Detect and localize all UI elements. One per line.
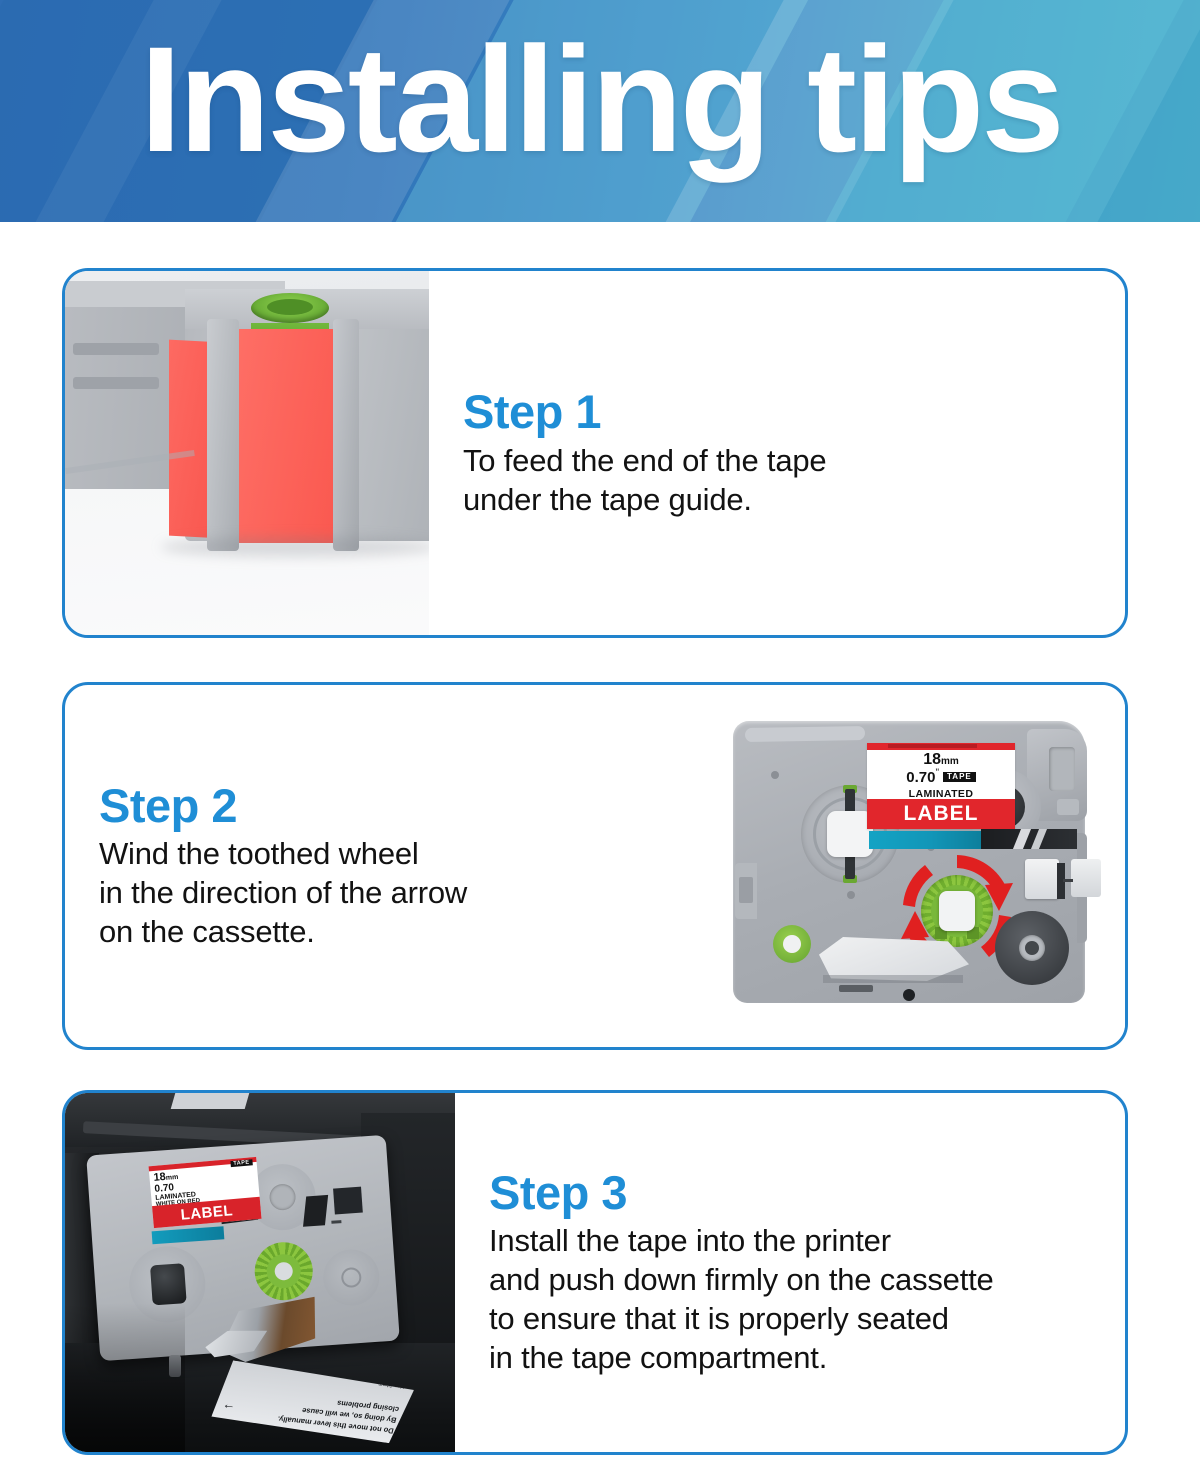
photo3-teal-tape-strip [152, 1226, 225, 1244]
cassette-left-spool-tab-bottom [845, 855, 855, 879]
label-width-mm-row: 18mm [867, 752, 1015, 768]
cassette-teal-tape-strip [869, 831, 981, 849]
cassette-right-ear-hole [1049, 747, 1075, 791]
header-banner: Installing tips [0, 0, 1200, 222]
photo1-tape-guide-left [207, 319, 239, 551]
cassette-top-notch [745, 726, 865, 742]
cassette-dark-roller-core [1025, 941, 1039, 955]
step-1-text: Step 1 To feed the end of the tape under… [429, 387, 1125, 518]
step-2-text: Step 2 Wind the toothed wheel in the dir… [65, 781, 695, 951]
photo1-rear-slot-1 [73, 343, 159, 355]
step-2-title: Step 2 [99, 781, 661, 830]
step-card-3: 18mm 0.70 LAMINATED WHITE ON RED TAPE LA… [62, 1090, 1128, 1455]
cassette-left-foot-inner [739, 877, 753, 903]
photo3-cassette-dash [331, 1220, 341, 1224]
step-3-title: Step 3 [489, 1168, 1091, 1217]
photo1-rear-slot-2 [73, 377, 159, 389]
photo1-red-tape [235, 329, 339, 543]
photo3-label-brand-word: LABEL [180, 1202, 234, 1224]
label-width-inch-row: 0.70"TAPE [867, 768, 1015, 786]
step-3-photo: 18mm 0.70 LAMINATED WHITE ON RED TAPE LA… [65, 1093, 455, 1452]
cassette-button-b [1071, 859, 1101, 897]
step-card-1: Step 1 To feed the end of the tape under… [62, 268, 1128, 638]
cassette-screw-2 [847, 891, 855, 899]
cassette-illustration: 18mm 0.70"TAPE LAMINATED WHITE ON RED LA… [727, 713, 1091, 1013]
photo3-label-mm-unit: mm [166, 1174, 179, 1182]
photo3-label-tape-tag: TAPE [230, 1159, 253, 1167]
step-1-body: To feed the end of the tape under the ta… [463, 441, 1091, 519]
label-mm-unit: mm [941, 756, 959, 767]
step-2-photo: 18mm 0.70"TAPE LAMINATED WHITE ON RED LA… [695, 685, 1125, 1047]
label-tape-tag: TAPE [943, 772, 976, 782]
cassette-left-spool-tab-top [845, 789, 855, 813]
cassette-small-green-roller-hub [783, 935, 801, 953]
cassette-right-ear-hole-2 [1057, 799, 1079, 815]
step-2-body: Wind the toothed wheel in the direction … [99, 834, 661, 951]
photo3-top-highlight [171, 1093, 250, 1109]
cassette-black-tape-strip [981, 829, 1077, 849]
label-top-red-bar [867, 743, 1015, 750]
cassette-bottom-dot [903, 989, 915, 1001]
label-laminated: LAMINATED [867, 789, 1015, 800]
photo3-cassette-label: 18mm 0.70 LAMINATED WHITE ON RED TAPE LA… [149, 1157, 262, 1228]
photo3-left-shadow [65, 1303, 185, 1452]
cassette-label-sticker: 18mm 0.70"TAPE LAMINATED WHITE ON RED LA… [867, 743, 1015, 829]
step-card-2: 18mm 0.70"TAPE LAMINATED WHITE ON RED LA… [62, 682, 1128, 1050]
photo1-green-spool-hole [267, 299, 313, 315]
label-red-band: LABEL [867, 799, 1015, 829]
label-width-mm: 18 [923, 751, 941, 768]
cassette-button-a [1025, 859, 1059, 899]
photo1-shadow [161, 537, 429, 557]
cassette-lever-shadow [823, 975, 963, 983]
photo1-tape-guide-right [333, 319, 359, 551]
label-width-inch: 0.70 [906, 770, 935, 785]
photo3-cassette-slot-1 [303, 1195, 328, 1227]
cassette-dash-mark [1063, 879, 1073, 882]
step-3-body: Install the tape into the printer and pu… [489, 1221, 1091, 1377]
photo3-cassette-slot-2 [333, 1187, 363, 1215]
cassette-bottom-bar [839, 985, 873, 992]
cassette-screw-1 [771, 771, 779, 779]
infographic-page: Installing tips [0, 0, 1200, 1457]
label-inch-mark: " [935, 768, 939, 779]
step-1-title: Step 1 [463, 387, 1091, 436]
step-1-photo [65, 271, 429, 635]
photo3-cassette-left-spool-hub [150, 1263, 187, 1305]
step-3-text: Step 3 Install the tape into the printer… [455, 1168, 1125, 1378]
label-brand-word: LABEL [904, 802, 979, 826]
page-title: Installing tips [140, 24, 1062, 174]
